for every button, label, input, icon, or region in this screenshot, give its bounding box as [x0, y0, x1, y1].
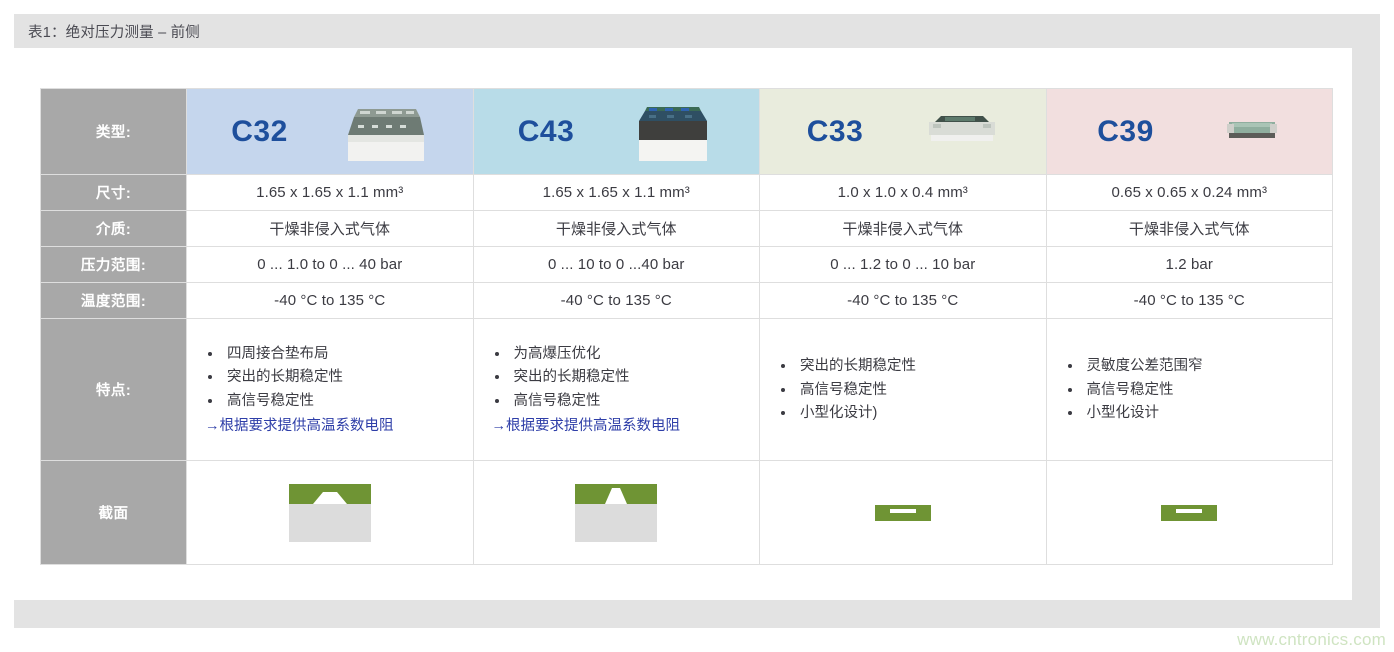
- cell-medium-c32: 干燥非侵入式气体: [187, 211, 474, 247]
- table-row-temperature: 温度范围: -40 °C to 135 °C -40 °C to 135 °C …: [41, 283, 1333, 319]
- cell-temperature-c32: -40 °C to 135 °C: [187, 283, 474, 319]
- c39-sensor-photo-icon: [1223, 112, 1281, 151]
- table-row-medium: 介质: 干燥非侵入式气体 干燥非侵入式气体 干燥非侵入式气体 干燥非侵入式气体: [41, 211, 1333, 247]
- cell-temperature-c33: -40 °C to 135 °C: [760, 283, 1047, 319]
- cell-features-c39: 灵敏度公差范围窄 高信号稳定性 小型化设计: [1046, 319, 1333, 461]
- cell-pressure-c32: 0 ... 1.0 to 0 ... 40 bar: [187, 247, 474, 283]
- table-title-tab: 表1：绝对压力测量 – 前侧: [14, 14, 216, 48]
- cell-medium-c39: 干燥非侵入式气体: [1046, 211, 1333, 247]
- feature-list-c39: 灵敏度公差范围窄 高信号稳定性 小型化设计: [1065, 355, 1333, 425]
- feature-list-c32: 四周接合垫布局 突出的长期稳定性 高信号稳定性: [205, 343, 473, 413]
- row-label-features: 特点:: [41, 319, 187, 461]
- row-label-medium: 介质:: [41, 211, 187, 247]
- cell-features-c43: 为高爆压优化 突出的长期稳定性 高信号稳定性 →根据要求提供高温系数电阻: [473, 319, 760, 461]
- list-item: 高信号稳定性: [796, 379, 1046, 402]
- cell-temperature-c43: -40 °C to 135 °C: [473, 283, 760, 319]
- cell-pressure-c33: 0 ... 1.2 to 0 ... 10 bar: [760, 247, 1047, 283]
- product-header-c43: C43: [473, 89, 760, 175]
- cell-features-c32: 四周接合垫布局 突出的长期稳定性 高信号稳定性 →根据要求提供高温系数电阻: [187, 319, 474, 461]
- cell-size-c43: 1.65 x 1.65 x 1.1 mm³: [473, 175, 760, 211]
- product-header-c33: C33: [760, 89, 1047, 175]
- c43-sensor-photo-icon: [631, 95, 715, 168]
- cell-cross-section-c33: [760, 461, 1047, 565]
- list-item: 突出的长期稳定性: [223, 366, 473, 389]
- product-name-c39: C39: [1097, 117, 1154, 147]
- row-label-temperature: 温度范围:: [41, 283, 187, 319]
- table-row-features: 特点: 四周接合垫布局 突出的长期稳定性 高信号稳定性 →根据要求提供高温系数电…: [41, 319, 1333, 461]
- cell-size-c39: 0.65 x 0.65 x 0.24 mm³: [1046, 175, 1333, 211]
- site-watermark: www.cntronics.com: [1237, 630, 1386, 650]
- table-card: 类型: C32: [14, 48, 1352, 600]
- cross-section-narrow-cavity-icon: [573, 504, 659, 521]
- list-item: 高信号稳定性: [510, 390, 760, 413]
- list-item: 高信号稳定性: [223, 390, 473, 413]
- row-label-size: 尺寸:: [41, 175, 187, 211]
- row-label-type: 类型:: [41, 89, 187, 175]
- product-header-c39: C39: [1046, 89, 1333, 175]
- product-name-c43: C43: [518, 117, 575, 147]
- table-row-cross-section: 截面: [41, 461, 1333, 565]
- cell-medium-c33: 干燥非侵入式气体: [760, 211, 1047, 247]
- cell-medium-c43: 干燥非侵入式气体: [473, 211, 760, 247]
- feature-note-c32: →根据要求提供高温系数电阻: [205, 416, 473, 438]
- list-item: 四周接合垫布局: [223, 343, 473, 366]
- cell-cross-section-c43: [473, 461, 760, 565]
- cell-size-c32: 1.65 x 1.65 x 1.1 mm³: [187, 175, 474, 211]
- feature-list-c33: 突出的长期稳定性 高信号稳定性 小型化设计): [778, 355, 1046, 425]
- list-item: 高信号稳定性: [1083, 379, 1333, 402]
- cell-cross-section-c39: [1046, 461, 1333, 565]
- table-row-pressure: 压力范围: 0 ... 1.0 to 0 ... 40 bar 0 ... 10…: [41, 247, 1333, 283]
- cell-features-c33: 突出的长期稳定性 高信号稳定性 小型化设计): [760, 319, 1047, 461]
- list-item: 小型化设计): [796, 402, 1046, 425]
- cross-section-wide-cavity-icon: [287, 504, 373, 521]
- feature-list-c43: 为高爆压优化 突出的长期稳定性 高信号稳定性: [492, 343, 760, 413]
- table-row-type: 类型: C32: [41, 89, 1333, 175]
- row-label-pressure: 压力范围:: [41, 247, 187, 283]
- cross-section-flat-slot-icon: [1160, 504, 1218, 521]
- list-item: 为高爆压优化: [510, 343, 760, 366]
- c32-sensor-photo-icon: [344, 95, 428, 168]
- feature-note-c43: →根据要求提供高温系数电阻: [492, 416, 760, 438]
- table-title: 表1：绝对压力测量 – 前侧: [28, 21, 200, 42]
- table-row-size: 尺寸: 1.65 x 1.65 x 1.1 mm³ 1.65 x 1.65 x …: [41, 175, 1333, 211]
- cell-temperature-c39: -40 °C to 135 °C: [1046, 283, 1333, 319]
- row-label-cross-section: 截面: [41, 461, 187, 565]
- c33-sensor-photo-icon: [925, 106, 999, 157]
- product-name-c33: C33: [807, 117, 864, 147]
- list-item: 突出的长期稳定性: [510, 366, 760, 389]
- cross-section-flat-slot-icon: [874, 504, 932, 521]
- list-item: 小型化设计: [1083, 402, 1333, 425]
- specification-table: 类型: C32: [40, 88, 1333, 565]
- product-header-c32: C32: [187, 89, 474, 175]
- list-item: 突出的长期稳定性: [796, 355, 1046, 378]
- product-name-c32: C32: [231, 117, 288, 147]
- list-item: 灵敏度公差范围窄: [1083, 355, 1333, 378]
- cell-cross-section-c32: [187, 461, 474, 565]
- cell-size-c33: 1.0 x 1.0 x 0.4 mm³: [760, 175, 1047, 211]
- cell-pressure-c39: 1.2 bar: [1046, 247, 1333, 283]
- cell-pressure-c43: 0 ... 10 to 0 ...40 bar: [473, 247, 760, 283]
